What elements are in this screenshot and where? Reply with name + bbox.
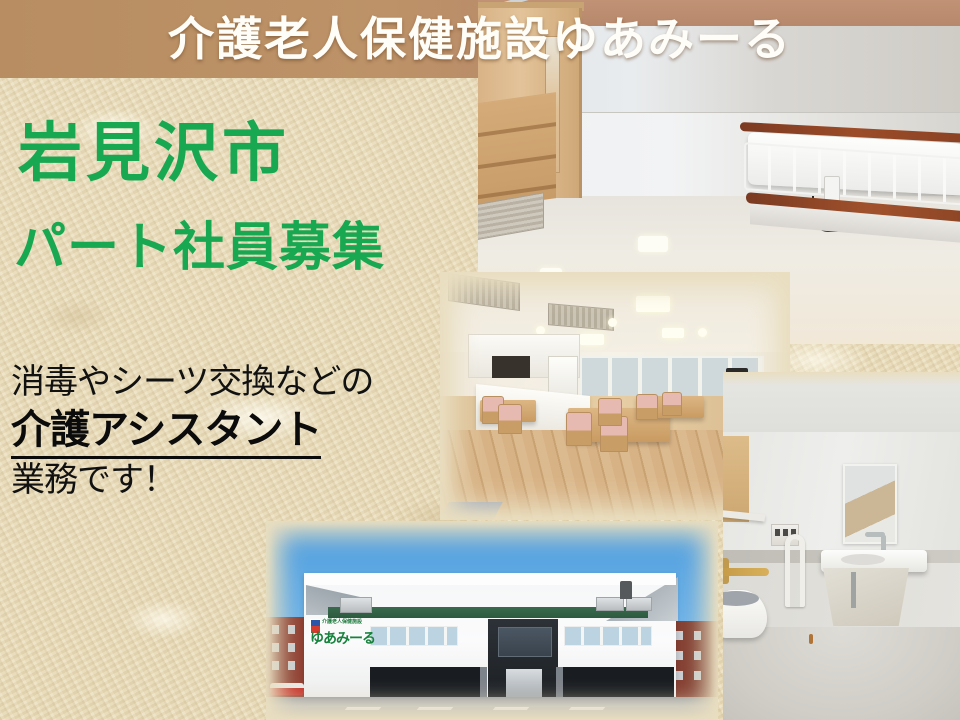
exterior-carport-left xyxy=(370,667,482,699)
bathroom-grab-bar xyxy=(785,534,805,607)
sign-facility-name: ゆあみーる xyxy=(310,628,375,648)
dresser-drawer-line xyxy=(478,154,556,174)
job-description-line-3: 業務です！ xyxy=(11,452,176,501)
dining-chair xyxy=(636,394,658,420)
facility-name-title: 介護老人保健施設ゆあみーる xyxy=(0,0,960,78)
dining-downlight xyxy=(608,318,617,327)
bathroom-drain-pipe xyxy=(851,572,856,608)
bathroom-panel-button xyxy=(775,529,780,536)
bathroom-floor-marker xyxy=(809,634,813,644)
dining-downlight xyxy=(698,328,707,337)
exterior-pillar xyxy=(556,667,563,699)
dining-ceiling-light xyxy=(662,328,684,338)
neighbor-window xyxy=(676,651,683,660)
exterior-rooftop-ac-unit xyxy=(596,597,624,611)
exterior-entrance-upper-glass xyxy=(498,627,552,657)
dining-chair xyxy=(662,392,682,416)
neighbor-window xyxy=(676,671,683,680)
poster-header-bar: 介護老人保健施設ゆあみーる xyxy=(0,0,960,78)
neighbor-window xyxy=(694,631,701,640)
bathroom-toilet-armrest xyxy=(723,568,769,576)
exterior-roof-stack xyxy=(620,581,632,599)
neighbor-window xyxy=(288,625,295,634)
bathroom-basin xyxy=(841,554,885,565)
exterior-neighbor-building-right xyxy=(670,621,718,699)
exterior-carport-right xyxy=(562,667,674,699)
dining-ceiling-light xyxy=(580,334,604,345)
city-name-heading: 岩見沢市 xyxy=(18,102,290,194)
bathroom-floor xyxy=(723,627,960,720)
exterior-facility-sign: 介護老人保健施設 ゆあみーる xyxy=(310,619,374,645)
exterior-entrance-door xyxy=(506,669,542,699)
bathroom-sink-pedestal xyxy=(823,568,909,626)
exterior-pillar xyxy=(480,667,487,699)
room-care-bed xyxy=(740,122,960,250)
job-title-emphasis: 介護アシスタント xyxy=(11,397,321,459)
room-wooden-dresser xyxy=(478,92,556,214)
photo-accessible-bathroom xyxy=(723,372,960,720)
dining-chair xyxy=(598,398,622,426)
neighbor-window xyxy=(272,625,279,634)
bathroom-photo-top-fade xyxy=(723,372,960,386)
parking-lane-marking xyxy=(569,707,606,710)
neighbor-window xyxy=(676,631,683,640)
exterior-window-row-left xyxy=(370,626,458,646)
sign-small-text: 介護老人保健施設 xyxy=(322,618,362,625)
parking-lane-marking xyxy=(493,707,530,710)
neighbor-window xyxy=(272,661,279,670)
dining-floor-mat xyxy=(440,502,503,520)
exterior-window-row-right xyxy=(564,626,652,646)
job-recruitment-poster: 介護老人保健施設ゆあみーる 岩見沢市 パート社員募集 消毒やシーツ交換などの 介… xyxy=(0,0,960,720)
parking-lane-marking xyxy=(417,707,454,710)
neighbor-window xyxy=(694,651,701,660)
parking-lane-marking xyxy=(345,707,382,710)
photo-building-exterior: 介護老人保健施設 ゆあみーる xyxy=(266,521,718,720)
dining-kitchen-opening xyxy=(492,356,530,378)
neighbor-window xyxy=(288,643,295,652)
dresser-drawer-line xyxy=(478,122,556,142)
exterior-rooftop-ac-unit xyxy=(340,597,372,613)
neighbor-window xyxy=(272,643,279,652)
recruitment-type-heading: パート社員募集 xyxy=(14,205,385,280)
exterior-parked-car xyxy=(270,683,304,695)
neighbor-window xyxy=(288,661,295,670)
exterior-parking-lot xyxy=(266,697,718,720)
dining-chair xyxy=(498,404,522,434)
exterior-rooftop-ac-unit xyxy=(626,597,652,611)
dining-chair xyxy=(566,412,592,446)
room-ceiling-light xyxy=(638,236,668,252)
dining-ceiling-light xyxy=(636,296,670,312)
job-description-line-1: 消毒やシーツ交換などの xyxy=(11,354,373,403)
bathroom-panel-button xyxy=(783,529,788,536)
bathroom-wood-partition xyxy=(723,436,749,522)
neighbor-window xyxy=(694,671,701,680)
